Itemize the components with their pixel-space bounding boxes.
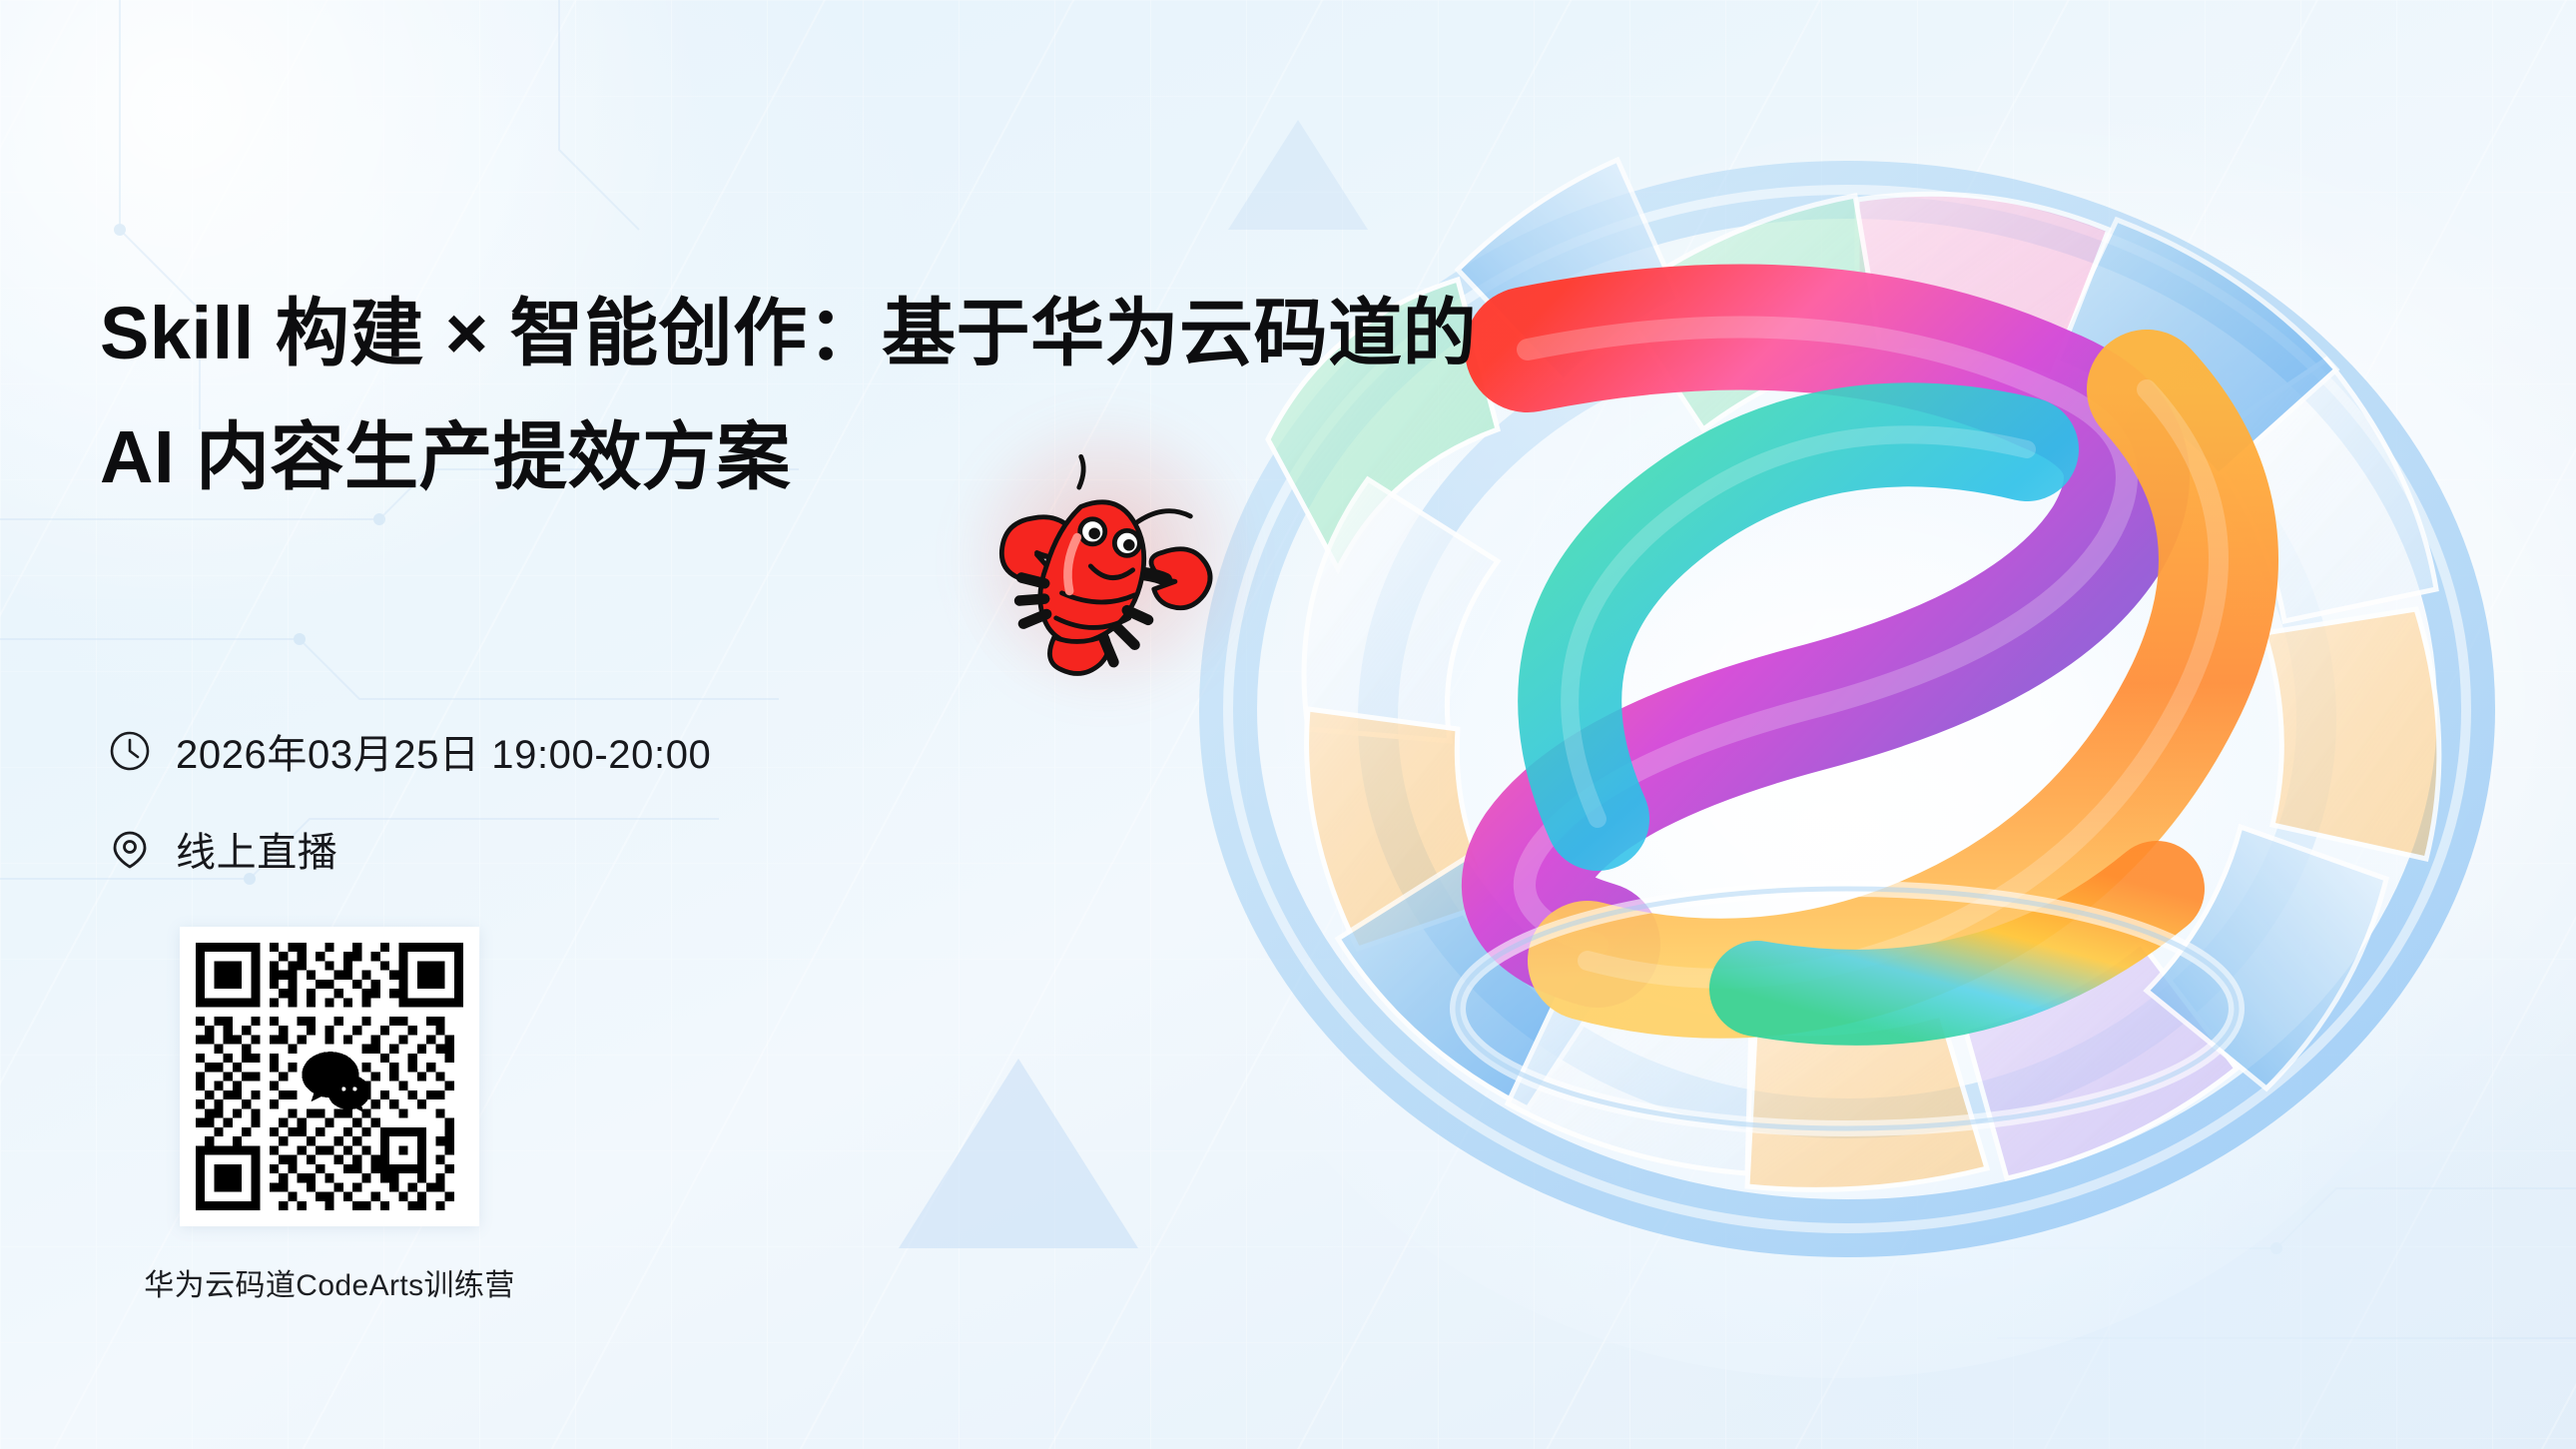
event-location-text: 线上直播: [176, 820, 337, 878]
poster-canvas: Skill 构建 × 智能创作：基于华为云码道的 AI 内容生产提效方案 202…: [0, 0, 2576, 1449]
location-pin-icon: [108, 827, 152, 871]
title-line-1: Skill 构建 × 智能创作：基于华为云码道的: [100, 280, 1258, 387]
event-datetime-row: 2026年03月25日 19:00-20:00: [108, 715, 711, 787]
left-content: Skill 构建 × 智能创作：基于华为云码道的 AI 内容生产提效方案 202…: [100, 0, 1278, 1449]
event-location-row: 线上直播: [108, 813, 711, 885]
qr-block: 华为云码道CodeArts训练营: [180, 927, 519, 1304]
wechat-logo-icon: [298, 1045, 370, 1112]
clock-icon: [108, 729, 152, 773]
page-title: Skill 构建 × 智能创作：基于华为云码道的 AI 内容生产提效方案: [100, 280, 1258, 511]
qr-code[interactable]: [180, 927, 479, 1226]
title-line-2: AI 内容生产提效方案: [100, 403, 1258, 511]
event-datetime-text: 2026年03月25日 19:00-20:00: [176, 722, 711, 780]
codearts-3d-artwork: [1058, 0, 2576, 1449]
event-meta: 2026年03月25日 19:00-20:00 线上直播: [108, 715, 711, 885]
qr-caption: 华为云码道CodeArts训练营: [140, 1260, 519, 1304]
